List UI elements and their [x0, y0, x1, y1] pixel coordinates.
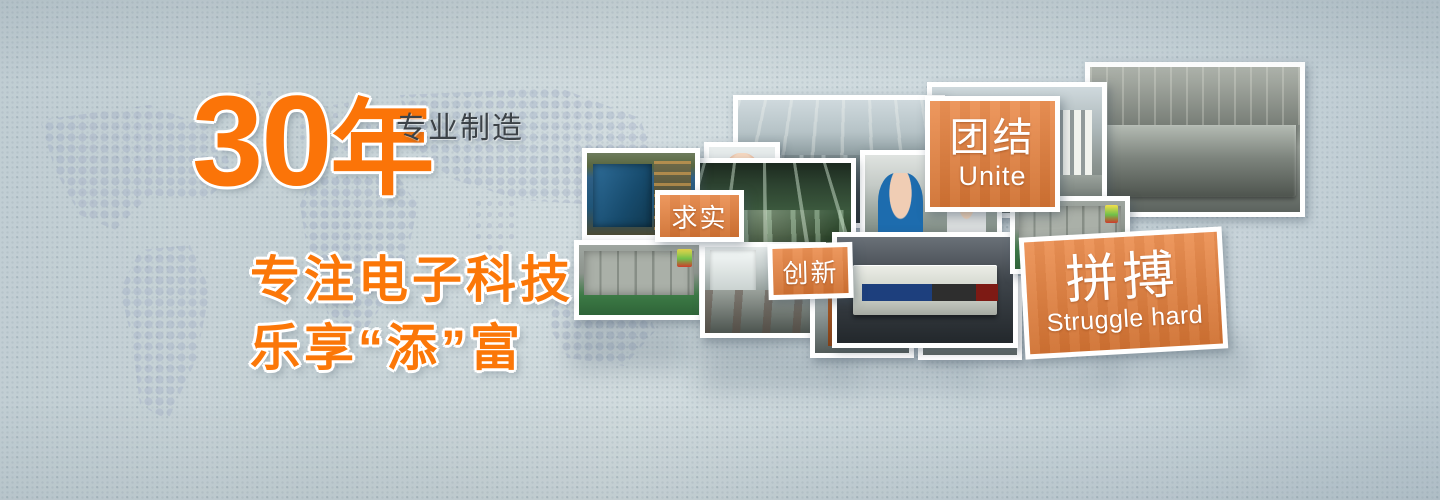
headline-block: 30年 专业制造 专注电子科技 乐享“添”富 — [0, 0, 600, 500]
years-unit: 年 — [330, 92, 432, 208]
photo-smt-placement-machines — [1085, 62, 1305, 217]
years-number: 30 — [192, 70, 330, 213]
slogan-inner: 拼搏 Struggle hard — [1024, 232, 1223, 355]
slogan-panel-chuangxin[interactable]: 创新 — [767, 242, 853, 300]
slogan-cn: 拼搏 — [1064, 249, 1181, 307]
slogan-inner: 求实 — [660, 195, 739, 237]
tagline-professional-manufacturing: 专业制造 — [396, 114, 524, 144]
slogan-panel-struggle-hard[interactable]: 拼搏 Struggle hard — [1019, 226, 1228, 359]
headline-line-1: 专注电子科技 — [250, 240, 574, 312]
photo-image — [1090, 67, 1300, 212]
slogan-en: Unite — [958, 161, 1026, 192]
slogan-panel-unite[interactable]: 团结 Unite — [925, 96, 1060, 212]
photo-image — [837, 237, 1013, 343]
slogan-inner: 团结 Unite — [930, 101, 1055, 207]
photo-collage: 团结 Unite 拼搏 Struggle hard 求实 创新 — [540, 0, 1320, 500]
slogan-cn: 求实 — [671, 198, 727, 235]
slogan-inner: 创新 — [772, 247, 848, 295]
slogan-cn: 创新 — [782, 252, 839, 290]
headline-line-2: 乐享“添”富 — [250, 308, 524, 380]
slogan-cn: 团结 — [950, 117, 1036, 159]
slogan-panel-qiushi[interactable]: 求实 — [655, 190, 744, 242]
promo-banner: 团结 Unite 拼搏 Struggle hard 求实 创新 30年 专业制造… — [0, 0, 1440, 500]
photo-test-instrument — [832, 232, 1018, 348]
